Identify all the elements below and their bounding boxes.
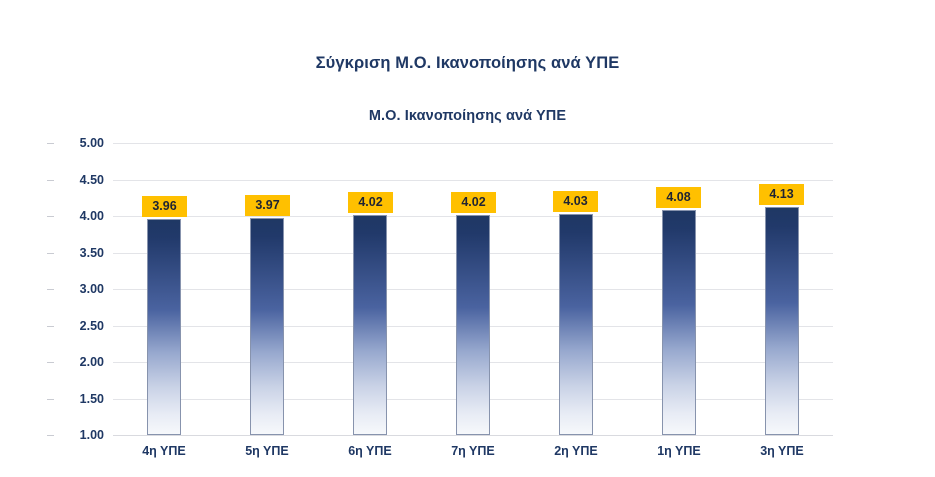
plot-area: 3.963.974.024.024.034.084.13 (113, 143, 833, 435)
x-tick-label: 2η ΥΠΕ (526, 444, 626, 458)
y-tick-label: 4.00 (52, 210, 104, 223)
bar[interactable] (559, 214, 593, 435)
x-tick-label: 7η ΥΠΕ (423, 444, 523, 458)
bar[interactable] (147, 219, 181, 435)
bar[interactable] (353, 215, 387, 435)
x-tick-label: 4η ΥΠΕ (114, 444, 214, 458)
y-tick-label: 1.00 (52, 429, 104, 442)
y-tick-label: 2.50 (52, 320, 104, 333)
x-tick-label: 6η ΥΠΕ (320, 444, 420, 458)
x-tick-label: 5η ΥΠΕ (217, 444, 317, 458)
y-tick-mark (47, 399, 54, 400)
y-tick-mark (47, 326, 54, 327)
bar[interactable] (250, 218, 284, 435)
gridline (113, 435, 833, 436)
y-tick-mark (47, 362, 54, 363)
y-tick-label: 5.00 (52, 137, 104, 150)
x-tick-label: 1η ΥΠΕ (629, 444, 729, 458)
y-tick-label: 2.00 (52, 356, 104, 369)
bar-value-label: 4.13 (759, 184, 804, 205)
y-tick-label: 3.50 (52, 247, 104, 260)
bar[interactable] (456, 215, 490, 435)
bar[interactable] (765, 207, 799, 435)
chart-title: Σύγκριση Μ.Ο. Ικανοποίησης ανά ΥΠΕ (0, 54, 935, 73)
y-axis: 5.004.504.003.503.002.502.001.501.00 (52, 143, 104, 435)
bar-value-label: 4.02 (451, 192, 496, 213)
bar-value-label: 3.96 (142, 196, 187, 217)
y-tick-mark (47, 253, 54, 254)
y-tick-mark (47, 180, 54, 181)
y-tick-mark (47, 143, 54, 144)
y-tick-label: 1.50 (52, 393, 104, 406)
y-tick-label: 4.50 (52, 174, 104, 187)
bar-value-label: 4.03 (553, 191, 598, 212)
bar-value-label: 4.08 (656, 187, 701, 208)
chart-subtitle: Μ.Ο. Ικανοποίησης ανά ΥΠΕ (0, 108, 935, 124)
gridline (113, 180, 833, 181)
y-tick-mark (47, 289, 54, 290)
bar[interactable] (662, 210, 696, 435)
gridline (113, 143, 833, 144)
y-tick-label: 3.00 (52, 283, 104, 296)
bar-value-label: 4.02 (348, 192, 393, 213)
y-tick-mark (47, 216, 54, 217)
x-tick-label: 3η ΥΠΕ (732, 444, 832, 458)
chart-container: Σύγκριση Μ.Ο. Ικανοποίησης ανά ΥΠΕ Μ.Ο. … (0, 0, 935, 477)
bar-value-label: 3.97 (245, 195, 290, 216)
y-tick-mark (47, 435, 54, 436)
